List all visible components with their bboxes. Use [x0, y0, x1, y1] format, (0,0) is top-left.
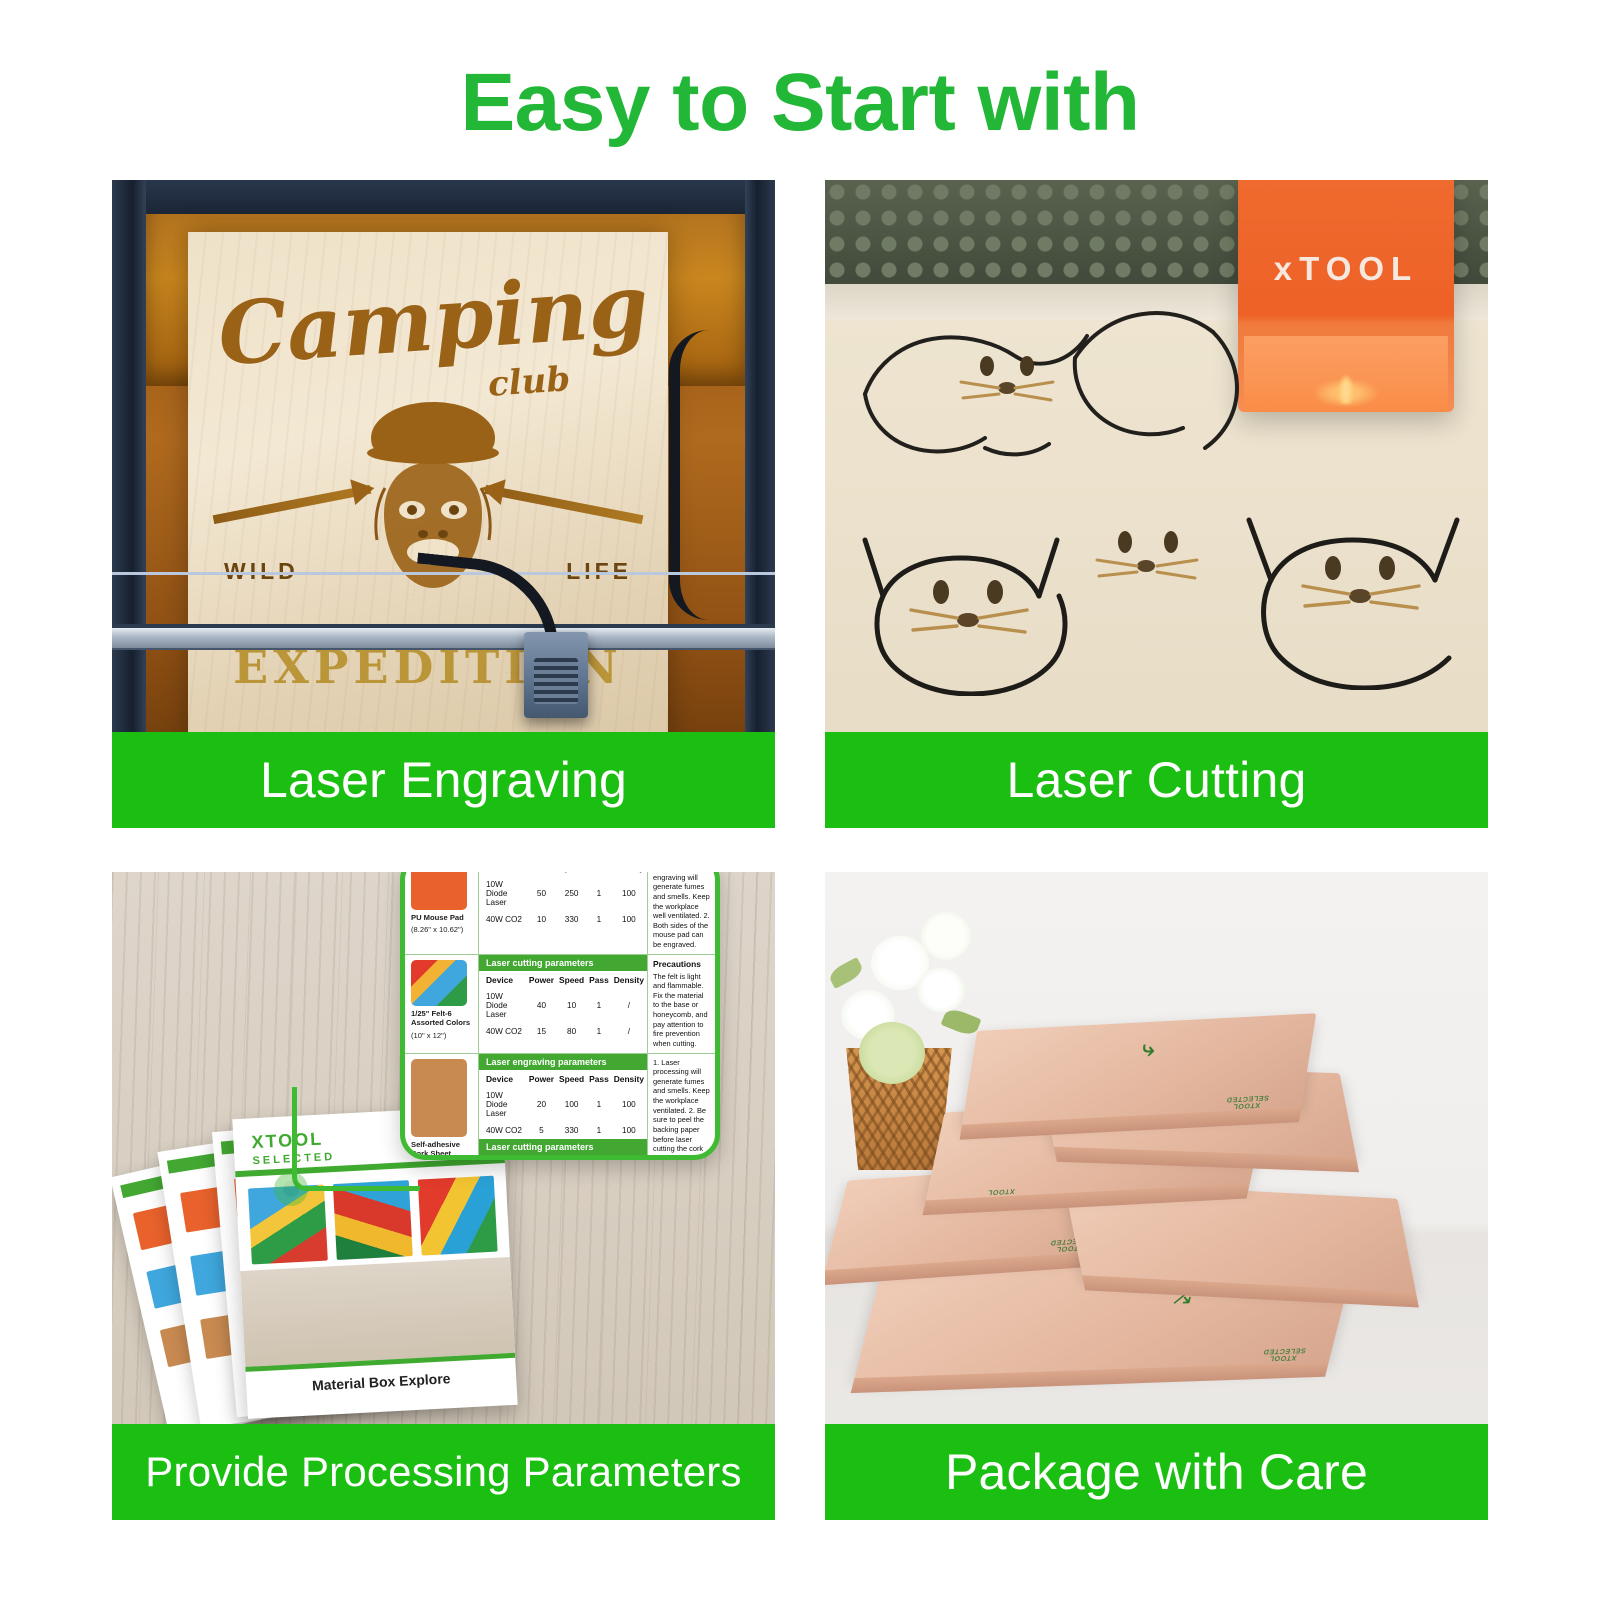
cell-device: 40W CO2 [479, 911, 527, 928]
table-row: 10W Diode Laser 20 100 1 100 [479, 1087, 647, 1122]
box-brand-text: XTOOL [987, 1187, 1016, 1195]
cell-density: 100 [612, 876, 647, 911]
parameter-block-thumb: PU Mouse Pad (8.26" x 10.62") [405, 872, 479, 954]
parameter-table: Device Power Speed Pass Density 10W Diod… [479, 971, 647, 1040]
panel-package-with-care[interactable]: XTOOL SELECTED ⤮ XTOOL SELECTED [825, 872, 1488, 1520]
arrow-left-decoration [213, 485, 372, 524]
laser-spark-icon [1338, 374, 1354, 404]
panel-laser-engraving[interactable]: Camping club [112, 180, 775, 828]
parameter-block-tables: Laser cutting parameters Device Power Sp… [479, 955, 647, 1053]
material-size: (8.26" x 10.62") [411, 925, 474, 934]
cat-face-whiskers-lower-left [899, 574, 1039, 654]
frame-post-left [112, 180, 146, 828]
col-device: Device [479, 971, 527, 988]
artwork-thumb [333, 1180, 413, 1260]
precaution-text: 1. Laser engraving will generate fumes a… [653, 872, 710, 949]
cell-device: 10W Diode Laser [479, 876, 527, 911]
parameter-block: PU Mouse Pad (8.26" x 10.62") Device Pow… [405, 872, 715, 955]
cell-density: 100 [612, 1122, 647, 1139]
cell-pass: 1 [587, 911, 612, 928]
col-power: Power [527, 971, 557, 988]
kraft-box-top: ⤷ XTOOL SELECTED [962, 1013, 1317, 1126]
col-speed: Speed [557, 971, 587, 988]
parameter-block: 1/25" Felt-6 Assorted Colors (10" x 12")… [405, 955, 715, 1054]
col-device: Device [479, 1155, 527, 1160]
precaution-title: Precautions [653, 959, 710, 970]
cell-speed: 330 [557, 911, 587, 928]
page-title: Easy to Start with [0, 56, 1600, 150]
material-swatch [411, 1059, 467, 1137]
engraved-plywood-board: Camping club [188, 232, 668, 792]
cell-power: 5 [527, 1122, 557, 1139]
laser-head-module [524, 632, 588, 718]
artwork-thumb [418, 1176, 498, 1256]
box-brand-label: XTOOL SELECTED [1225, 1093, 1270, 1110]
panel-processing-parameters[interactable]: XTOOL SELECTED Material Box Explore [112, 872, 775, 1520]
flower-bloom-icon [859, 1022, 925, 1084]
table-title: Laser cutting parameters [479, 1139, 647, 1155]
cell-power: 15 [527, 1023, 557, 1040]
cell-power: 50 [527, 876, 557, 911]
material-name: Self-adhesive Cork Sheet [411, 1140, 474, 1159]
col-pass: Pass [587, 1155, 612, 1160]
col-pass: Pass [587, 1070, 612, 1087]
cell-power: 40 [527, 988, 557, 1023]
cat-face-whiskers-middle [1087, 526, 1207, 596]
material-swatch [411, 960, 467, 1006]
table-header-row: Device Power Speed Pass Density [479, 1155, 647, 1160]
table-row: 40W CO2 5 330 1 100 [479, 1122, 647, 1139]
precaution-text: The felt is light and flammable. Fix the… [653, 972, 708, 1048]
flower-bloom-icon [917, 968, 965, 1012]
cell-pass: 1 [587, 1087, 612, 1122]
cat-outline-upper-right [1067, 306, 1267, 456]
col-density: Density [612, 1070, 647, 1087]
col-speed: Speed [557, 1155, 587, 1160]
parameter-block: Self-adhesive Cork Sheet (10" x 12") Las… [405, 1054, 715, 1160]
precaution-text: 1. Laser processing will generate fumes … [653, 1058, 710, 1160]
engraving-script-text: Camping [215, 255, 641, 385]
frame-post-right [745, 180, 775, 828]
material-name: PU Mouse Pad [411, 913, 474, 922]
precaution-note: 1. Laser processing will generate fumes … [647, 1054, 715, 1160]
parameter-block-tables: Device Power Speed Pass Density 10W Diod… [479, 872, 647, 954]
cell-pass: 1 [587, 876, 612, 911]
flower-bloom-icon [921, 912, 971, 960]
cell-speed: 100 [557, 1087, 587, 1122]
table-header-row: Device Power Speed Pass Density [479, 971, 647, 988]
cell-speed: 80 [557, 1023, 587, 1040]
processing-parameters-photo: XTOOL SELECTED Material Box Explore [112, 872, 775, 1520]
precaution-note: Precautions The felt is light and flamma… [647, 955, 715, 1053]
col-pass: Pass [587, 971, 612, 988]
parameter-table: Device Power Speed Pass Density 10W Diod… [479, 1155, 647, 1160]
cell-density: 100 [612, 1087, 647, 1122]
box-brand-label: XTOOL [987, 1186, 1016, 1195]
cell-speed: 330 [557, 1122, 587, 1139]
cell-device: 40W CO2 [479, 1023, 527, 1040]
parameter-table: Device Power Speed Pass Density 10W Diod… [479, 872, 647, 928]
col-speed: Speed [557, 1070, 587, 1087]
flyer-product-photo [240, 1257, 515, 1367]
xtool-brand-label: xTOOL [1238, 250, 1454, 288]
parameter-block-tables: Laser engraving parameters Device Power … [479, 1054, 647, 1160]
precaution-note: 1. Laser engraving will generate fumes a… [647, 872, 715, 954]
box-brand-text: XTOOL [1268, 1354, 1297, 1362]
table-header-row: Device Power Speed Pass Density [479, 1070, 647, 1087]
table-row: 40W CO2 10 330 1 100 [479, 911, 647, 928]
parameter-block-thumb: 1/25" Felt-6 Assorted Colors (10" x 12") [405, 955, 479, 1053]
cell-device: 40W CO2 [479, 1122, 527, 1139]
cell-power: 20 [527, 1087, 557, 1122]
material-size: (10" x 12") [411, 1031, 474, 1040]
cat-face-whiskers-lower-right [1291, 550, 1431, 630]
laser-engraving-photo: Camping club [112, 180, 775, 828]
cell-density: / [612, 1023, 647, 1040]
col-density: Density [612, 1155, 647, 1160]
table-row: 40W CO2 15 80 1 / [479, 1023, 647, 1040]
package-with-care-photo: XTOOL SELECTED ⤮ XTOOL SELECTED [825, 872, 1488, 1520]
cell-pass: 1 [587, 988, 612, 1023]
xtool-laser-module: xTOOL [1238, 180, 1454, 412]
parameter-block-thumb: Self-adhesive Cork Sheet (10" x 12") [405, 1054, 479, 1160]
table-title: Laser engraving parameters [479, 1054, 647, 1070]
material-name: 1/25" Felt-6 Assorted Colors [411, 1009, 474, 1028]
leaf-logo-mark: ⤷ [1140, 1035, 1157, 1062]
arrow-right-decoration [485, 485, 644, 524]
panel-caption-processing-parameters: Provide Processing Parameters [112, 1424, 775, 1520]
col-power: Power [527, 1070, 557, 1087]
cell-pass: 1 [587, 1122, 612, 1139]
parameter-card-zoom: PU Mouse Pad (8.26" x 10.62") Device Pow… [400, 872, 720, 1160]
cell-density: 100 [612, 911, 647, 928]
panel-caption-laser-cutting: Laser Cutting [825, 732, 1488, 828]
callout-anchor-dot [274, 1172, 308, 1206]
table-row: 10W Diode Laser 40 10 1 / [479, 988, 647, 1023]
material-swatch [411, 872, 467, 910]
cell-speed: 250 [557, 876, 587, 911]
table-row: 10W Diode Laser 50 250 1 100 [479, 876, 647, 911]
panel-laser-cutting[interactable]: xTOOL [825, 180, 1488, 828]
cell-pass: 1 [587, 1023, 612, 1040]
panel-caption-package-with-care: Package with Care [825, 1424, 1488, 1520]
col-density: Density [612, 971, 647, 988]
parameter-table: Device Power Speed Pass Density 10W Diod… [479, 1070, 647, 1139]
cell-device: 10W Diode Laser [479, 1087, 527, 1122]
laser-cutting-photo: xTOOL [825, 180, 1488, 828]
cat-face-whiskers-upper [953, 350, 1063, 414]
cell-device: 10W Diode Laser [479, 988, 527, 1023]
feature-grid: Camping club [112, 180, 1488, 1520]
box-brand-label: XTOOL SELECTED [1261, 1346, 1307, 1362]
cell-density: / [612, 988, 647, 1023]
box-brand-subtext: SELECTED [1262, 1346, 1306, 1354]
cell-speed: 10 [557, 988, 587, 1023]
engraving-sub-text: club [487, 359, 572, 405]
cell-power: 10 [527, 911, 557, 928]
promo-page: Easy to Start with Camping club [0, 0, 1600, 1600]
table-title: Laser cutting parameters [479, 955, 647, 971]
col-power: Power [527, 1155, 557, 1160]
top-rail [112, 180, 775, 214]
flyer-caption: Material Box Explore [246, 1367, 516, 1397]
col-device: Device [479, 1070, 527, 1087]
panel-caption-laser-engraving: Laser Engraving [112, 732, 775, 828]
